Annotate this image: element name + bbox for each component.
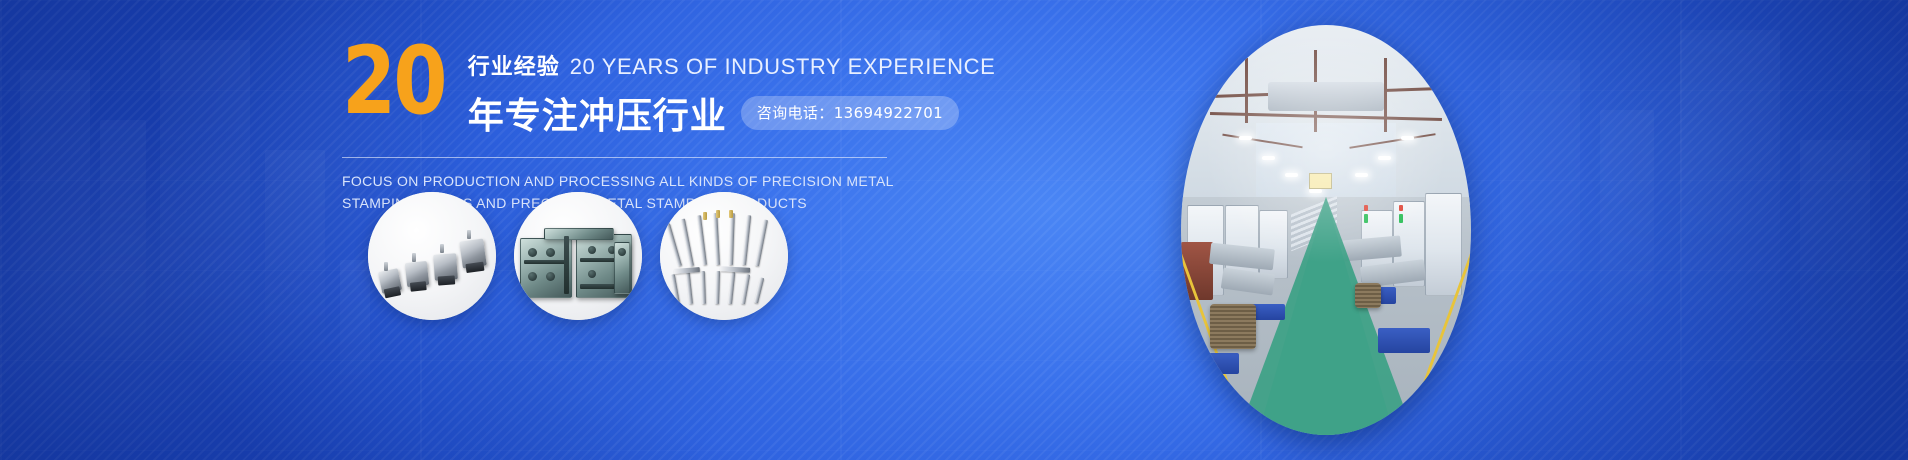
product-circle-row [368,192,788,320]
headline-block: 20 行业经验 20 YEARS OF INDUSTRY EXPERIENCE … [342,40,942,214]
promo-banner: 20 行业经验 20 YEARS OF INDUSTRY EXPERIENCE … [0,0,1908,460]
product-circle-connector-shells [368,192,496,320]
product-circle-stamping-die [514,192,642,320]
headline-cn-big: 年专注冲压行业 [468,87,727,139]
product-circle-stamped-pins [660,192,788,320]
headline-line-2: 年专注冲压行业 咨询电话：13694922701 [468,87,996,139]
years-number: 20 [342,40,445,119]
factory-workshop-photo [1181,25,1471,435]
headline-line-1: 行业经验 20 YEARS OF INDUSTRY EXPERIENCE [468,49,996,81]
headline-en-small: 20 YEARS OF INDUSTRY EXPERIENCE [570,54,996,80]
headline-divider [342,157,887,158]
headline-cn-small: 行业经验 [468,49,560,81]
phone-pill[interactable]: 咨询电话：13694922701 [741,96,959,130]
